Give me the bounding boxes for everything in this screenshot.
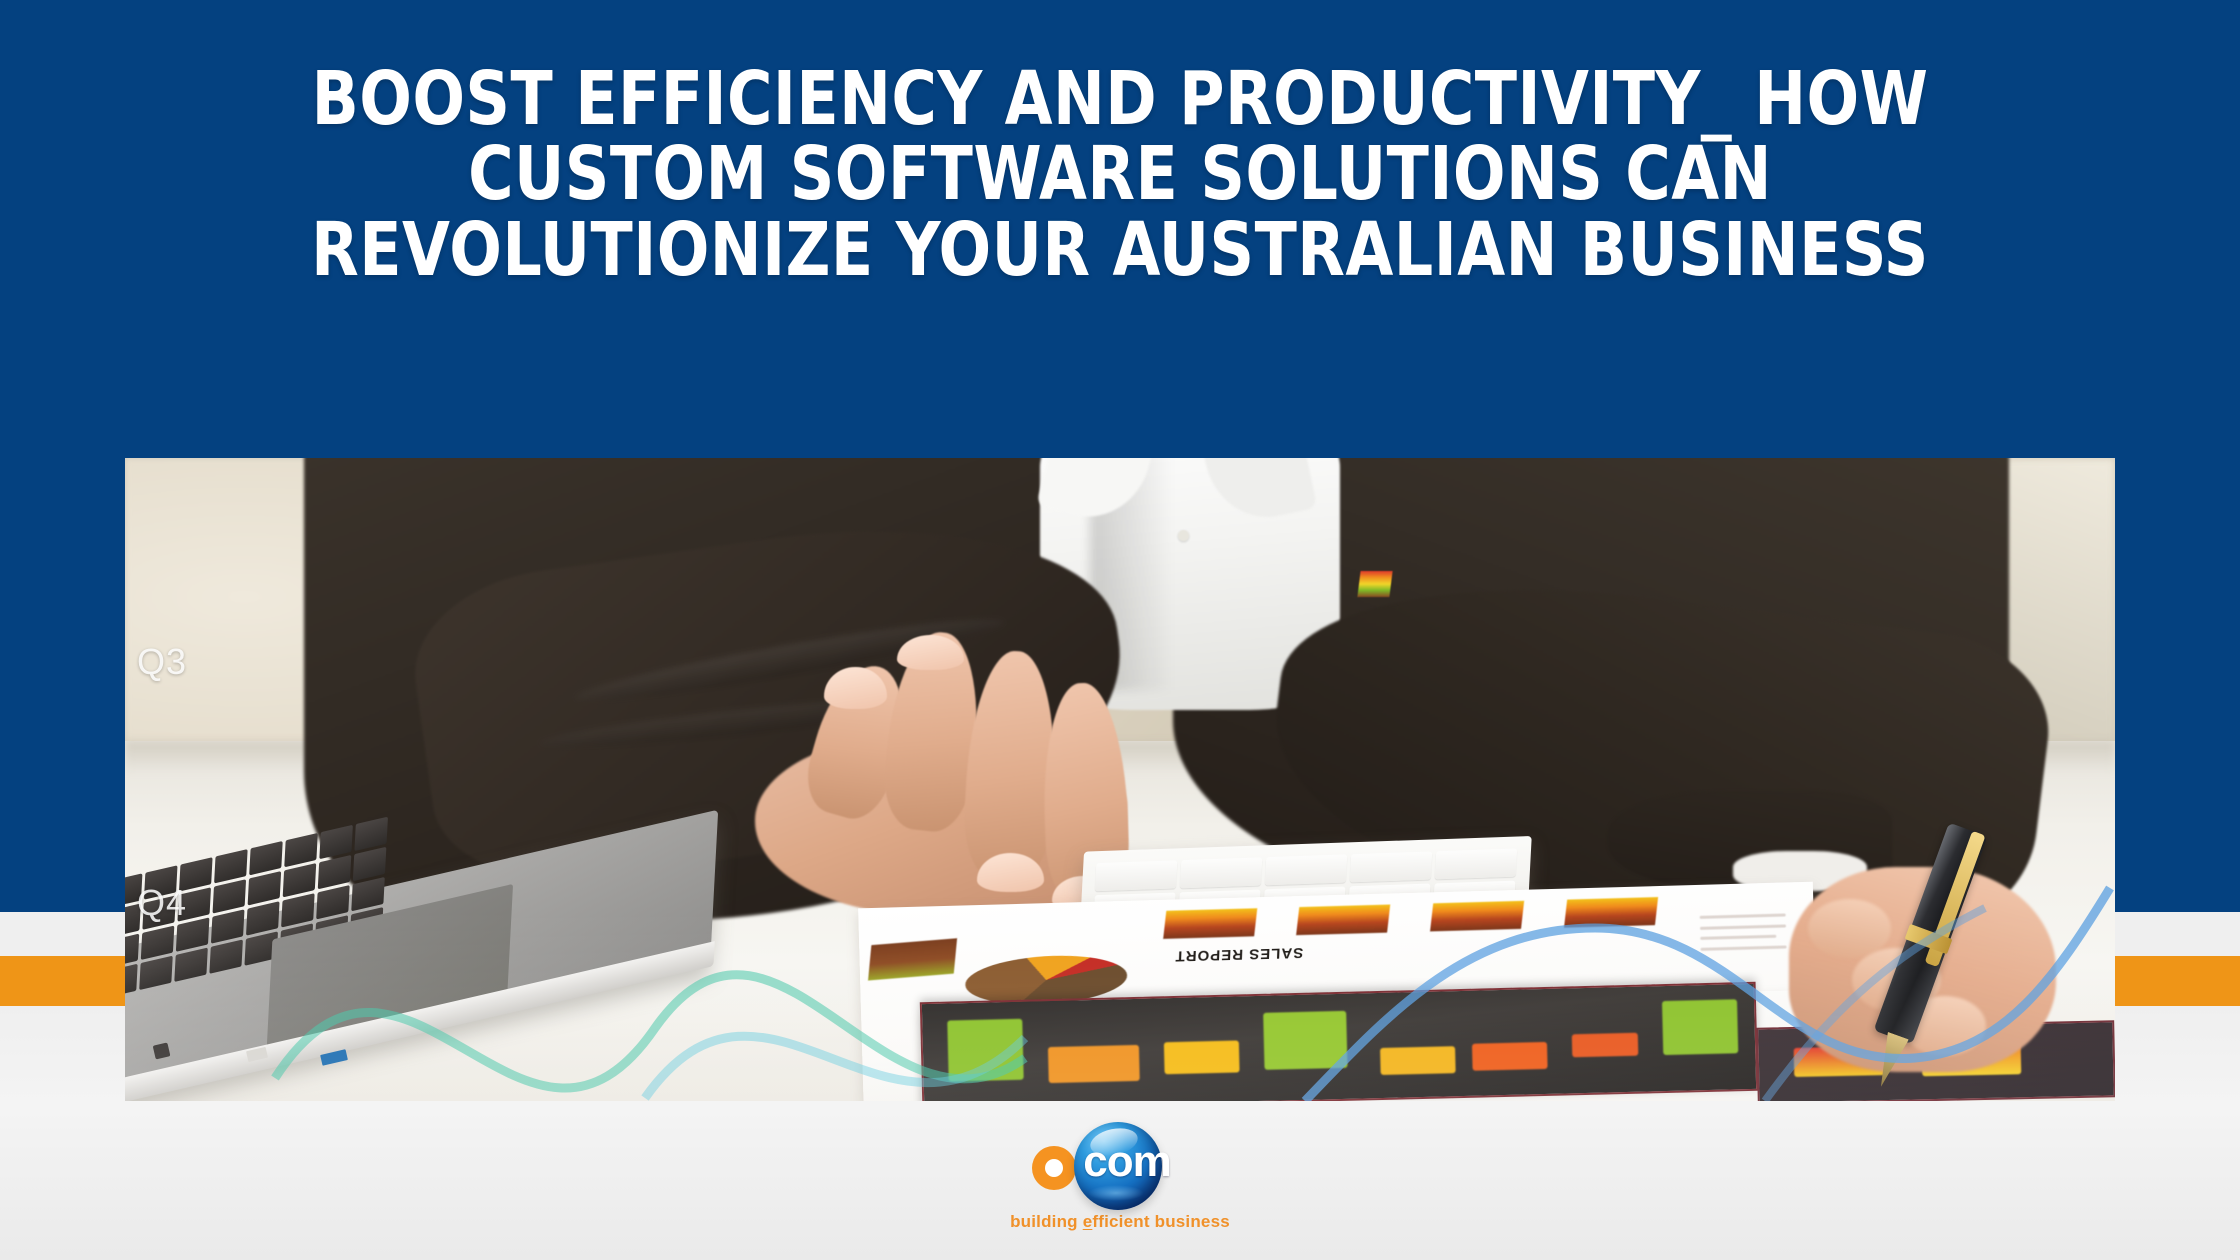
mini-table bbox=[1430, 901, 1524, 932]
laptop bbox=[125, 844, 722, 1101]
tagline-suffix: fficient business bbox=[1092, 1212, 1230, 1231]
headline-line-3: REVOLUTIONIZE YOUR AUSTRALIAN BUSINESS bbox=[218, 213, 2022, 288]
company-logo: com building efficient business bbox=[1008, 1118, 1232, 1246]
tablet-screen bbox=[920, 982, 1758, 1101]
mini-table bbox=[1163, 908, 1257, 939]
calculator-key bbox=[1096, 860, 1178, 891]
quarter-label-q3: Q3 bbox=[137, 641, 187, 683]
logo-tagline: building efficient business bbox=[1008, 1212, 1232, 1232]
logo-com-text: com bbox=[1068, 1140, 1186, 1184]
quarter-label-q4: Q4 bbox=[137, 882, 187, 924]
tagline-prefix: building bbox=[1010, 1212, 1083, 1231]
colour-chip bbox=[1357, 571, 1392, 597]
promo-banner: BOOST EFFICIENCY AND PRODUCTIVITY_ HOW C… bbox=[0, 0, 2240, 1260]
tagline-underlined-letter: e bbox=[1083, 1212, 1093, 1231]
calculator-key bbox=[1435, 848, 1517, 879]
calculator-key bbox=[1180, 857, 1262, 888]
page-title: BOOST EFFICIENCY AND PRODUCTIVITY_ HOW C… bbox=[218, 62, 2022, 288]
headline-line-1: BOOST EFFICIENCY AND PRODUCTIVITY_ HOW bbox=[218, 62, 2022, 137]
calculator-key bbox=[1265, 854, 1347, 885]
mini-table bbox=[1297, 905, 1391, 936]
hero-photo-scene: SALES REPORT bbox=[125, 458, 2115, 1101]
headline-line-2: CUSTOM SOFTWARE SOLUTIONS CAN bbox=[218, 137, 2022, 212]
legend-swatch bbox=[868, 938, 957, 980]
logo-mark: com bbox=[1008, 1118, 1232, 1210]
calculator-key bbox=[1350, 851, 1432, 882]
hero-photo: SALES REPORT bbox=[125, 458, 2115, 1101]
report-title: SALES REPORT bbox=[1175, 944, 1304, 965]
right-hand bbox=[1757, 818, 2075, 1088]
mini-table bbox=[1564, 897, 1658, 928]
